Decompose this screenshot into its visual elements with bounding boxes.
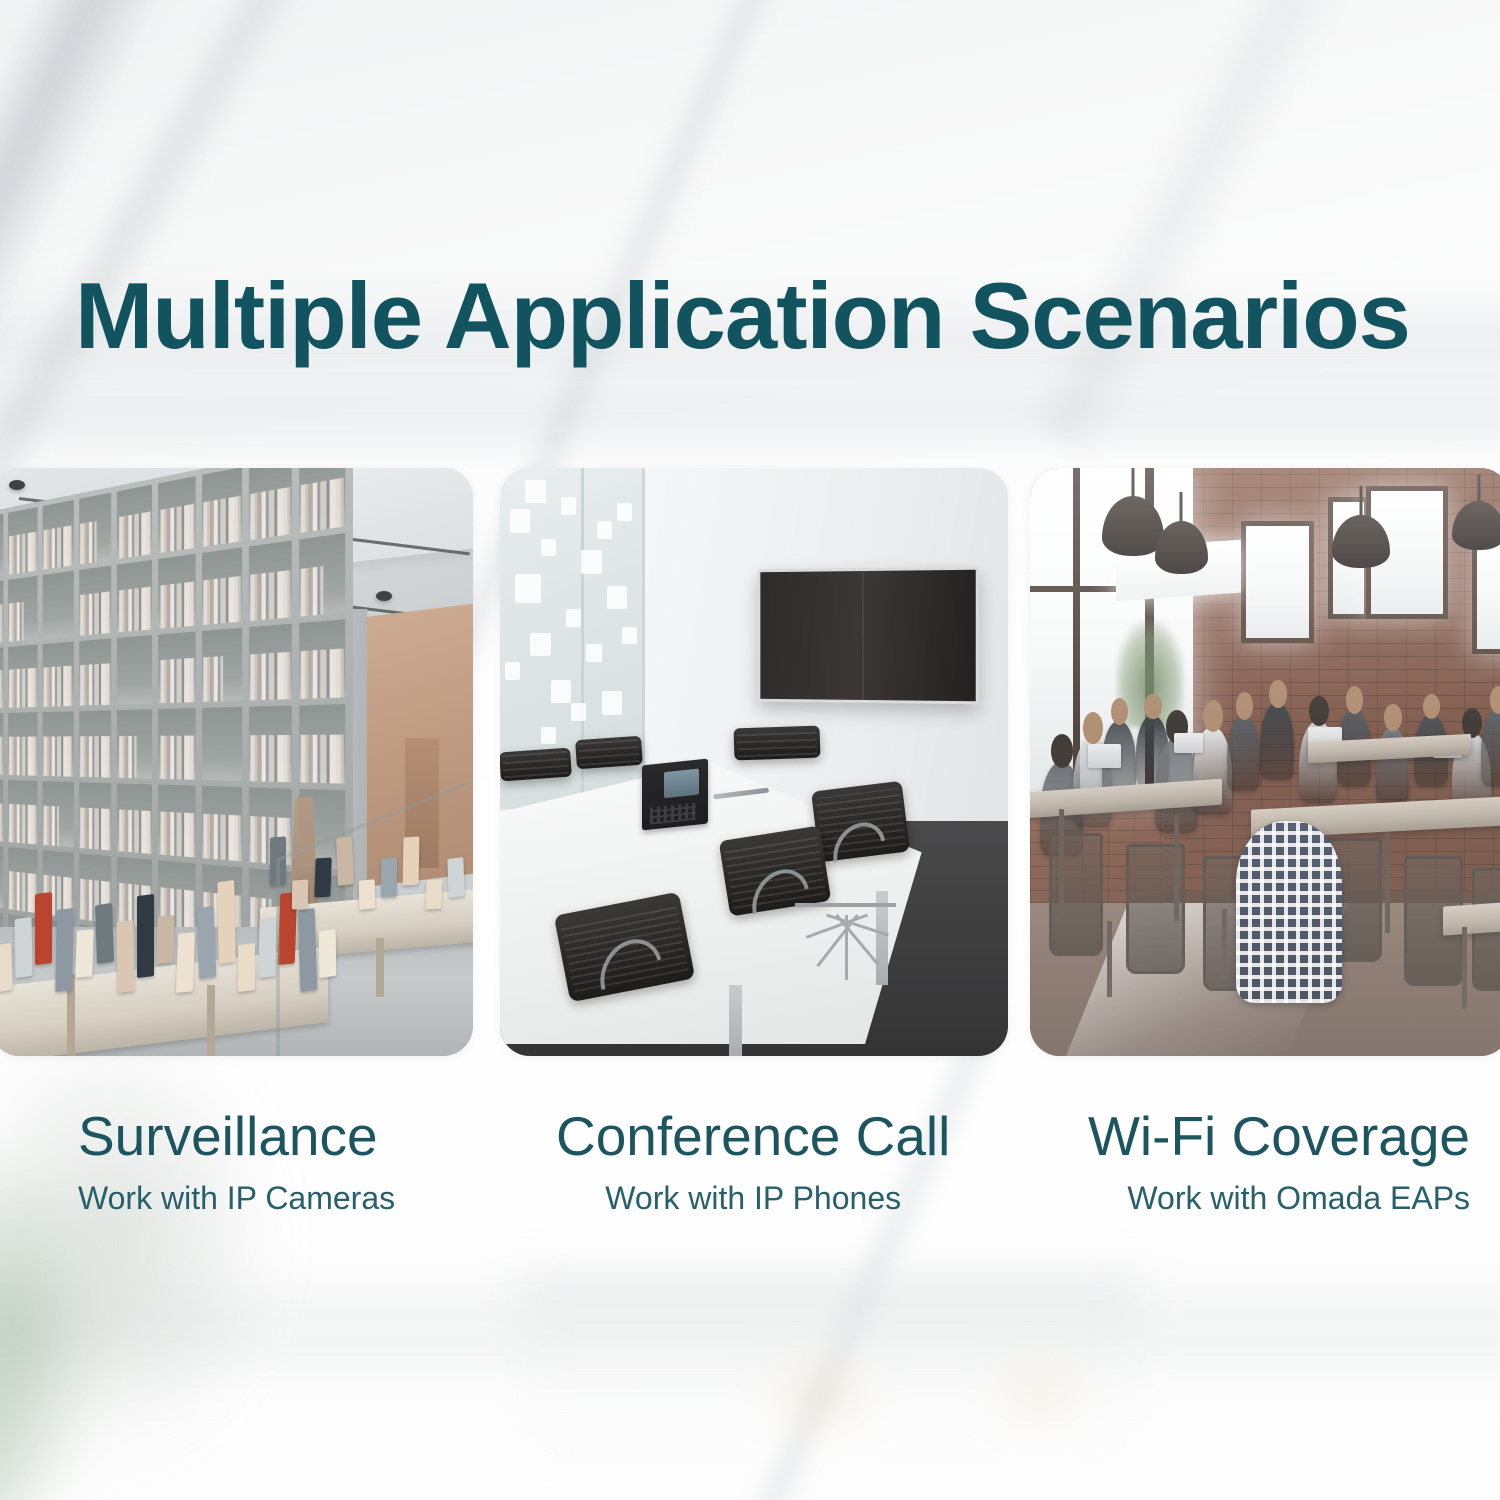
frosted-glass-tile <box>530 633 550 657</box>
display-book <box>35 891 52 964</box>
cafe-person-head <box>1083 712 1103 744</box>
shelf-cubby <box>0 779 3 841</box>
display-book <box>75 929 94 978</box>
shelf-cubby <box>117 485 152 559</box>
shelf-cubby <box>8 644 37 708</box>
shelf-cubby <box>249 468 292 540</box>
shelf-cubby <box>202 786 242 861</box>
shelf-cubby <box>158 785 195 858</box>
shelf-cubby <box>78 565 111 635</box>
display-book <box>217 880 236 965</box>
caption-title-wifi: Wi-Fi Coverage <box>1088 1106 1470 1167</box>
shelf-cubby <box>249 623 292 701</box>
caption-title-conference: Conference Call <box>556 1106 950 1167</box>
display-book <box>157 915 175 964</box>
cafe-person-head <box>1144 694 1161 719</box>
shelf-cubby <box>117 710 152 779</box>
shelf-cubby <box>78 638 111 706</box>
background-band-lower <box>0 392 1500 438</box>
shelf-cubby <box>42 781 73 847</box>
shelf-cubby <box>42 712 73 777</box>
caption-surveillance: Surveillance Work with IP Cameras <box>78 1106 395 1216</box>
display-book <box>0 943 13 993</box>
display-book <box>196 905 216 978</box>
frosted-glass-tile <box>505 662 520 680</box>
frosted-glass-tile <box>602 691 622 715</box>
cafe-person-head <box>1269 680 1286 708</box>
scenario-card-conference[interactable] <box>500 468 1008 1056</box>
cafe-table-leg <box>1107 921 1112 997</box>
cafe-chair <box>1049 833 1103 957</box>
seated-person-foreground <box>1236 821 1342 1003</box>
display-book <box>176 932 195 993</box>
shelf-cubby <box>42 641 73 707</box>
shelf-cubby <box>117 560 152 632</box>
shelf-cubby <box>202 627 242 702</box>
caption-title-surveillance: Surveillance <box>78 1106 395 1167</box>
shelf-cubby <box>42 571 73 639</box>
cafe-person-head <box>1309 696 1329 726</box>
caption-wifi: Wi-Fi Coverage Work with Omada EAPs <box>1088 1106 1470 1216</box>
cafe-table-leg <box>1059 809 1064 915</box>
shelf-cubby <box>117 635 152 705</box>
scenario-card-surveillance[interactable] <box>0 468 473 1056</box>
cafe-coworking-image <box>1030 468 1500 1056</box>
display-book <box>95 903 114 964</box>
cafe-person-head <box>1490 686 1500 714</box>
cafe-person-head <box>1346 686 1363 714</box>
page-title: Multiple Application Scenarios <box>75 267 1410 366</box>
shelf-cubby <box>158 476 195 553</box>
cafe-person-head <box>1203 700 1223 732</box>
frosted-glass-tile <box>541 727 556 745</box>
shelf-cubby <box>202 707 242 781</box>
shelf-cubby <box>78 493 111 565</box>
shelf-cubby <box>0 844 3 908</box>
background-shelf-blur <box>520 1275 1140 1465</box>
laptop-icon <box>1088 744 1122 768</box>
cafe-table-leg <box>1462 927 1467 1009</box>
frosted-glass-tile <box>515 574 540 603</box>
shelf-cubby <box>202 468 242 547</box>
display-book <box>238 943 255 992</box>
shelf-cubby <box>8 780 37 844</box>
application-scenarios-banner: Multiple Application Scenarios <box>0 0 1500 1500</box>
shelf-cubby <box>8 507 37 574</box>
shelf-cubby <box>0 580 3 644</box>
frosted-glass-tile <box>561 497 576 515</box>
wall-display-icon <box>758 567 980 705</box>
shelf-cubby <box>299 533 345 616</box>
ip-phone-icon <box>642 759 708 831</box>
shelf-cubby <box>249 706 292 782</box>
laptop-icon <box>1174 733 1203 753</box>
caption-subtitle-surveillance: Work with IP Cameras <box>78 1181 395 1216</box>
scenario-card-wifi[interactable] <box>1030 468 1500 1056</box>
shelf-cubby <box>78 711 111 778</box>
display-book <box>55 908 74 992</box>
display-book <box>258 917 276 978</box>
cafe-person-head <box>1384 704 1401 732</box>
shelf-cubby <box>0 647 3 709</box>
frosted-glass-tile <box>617 503 632 521</box>
cafe-person <box>1260 703 1294 779</box>
display-book <box>116 920 135 993</box>
shelf-cubby <box>8 713 37 776</box>
frosted-glass-tile <box>510 509 530 533</box>
caption-subtitle-conference: Work with IP Phones <box>556 1181 950 1216</box>
frosted-glass-tile <box>571 703 586 721</box>
cafe-person-head <box>1236 692 1253 720</box>
shelf-cubby <box>202 547 242 624</box>
shelf-cubby <box>299 705 345 784</box>
shelf-cubby <box>78 783 111 851</box>
display-book <box>15 917 33 978</box>
frosted-glass-tile <box>607 586 627 610</box>
display-book <box>137 894 154 978</box>
shelf-cubby <box>158 554 195 629</box>
caption-subtitle-wifi: Work with Omada EAPs <box>1088 1181 1470 1216</box>
shelf-cubby <box>8 576 37 642</box>
conference-room-image <box>500 468 1008 1056</box>
frosted-glass-tile <box>597 521 612 539</box>
shelf-cubby <box>249 540 292 620</box>
frosted-glass-tile <box>551 680 571 704</box>
shelf-cubby <box>117 784 152 854</box>
frosted-glass-tile <box>566 609 581 627</box>
shelf-cubby <box>0 514 3 579</box>
shelf-cubby <box>0 714 3 775</box>
frosted-glass-tile <box>525 480 545 504</box>
frosted-glass-tile <box>622 627 637 645</box>
caption-conference: Conference Call Work with IP Phones <box>556 1106 950 1216</box>
cafe-table-leg <box>1385 833 1390 933</box>
shelf-cubby <box>299 468 345 533</box>
shelf-cubby <box>8 847 37 913</box>
frosted-glass-tile <box>586 644 601 662</box>
frosted-glass-tile <box>541 539 556 557</box>
cafe-person-head <box>1051 734 1073 768</box>
cafe-table-leg <box>1222 909 1227 980</box>
frosted-glass-tile <box>581 550 601 574</box>
shelf-cubby <box>158 631 195 704</box>
library-bookstore-image <box>0 468 473 1056</box>
cafe-table-leg <box>1174 815 1179 921</box>
shelf-cubby <box>299 619 345 700</box>
scenario-cards-row <box>0 468 1500 1056</box>
shelf-cubby <box>42 500 73 570</box>
shelf-cubby <box>158 709 195 781</box>
